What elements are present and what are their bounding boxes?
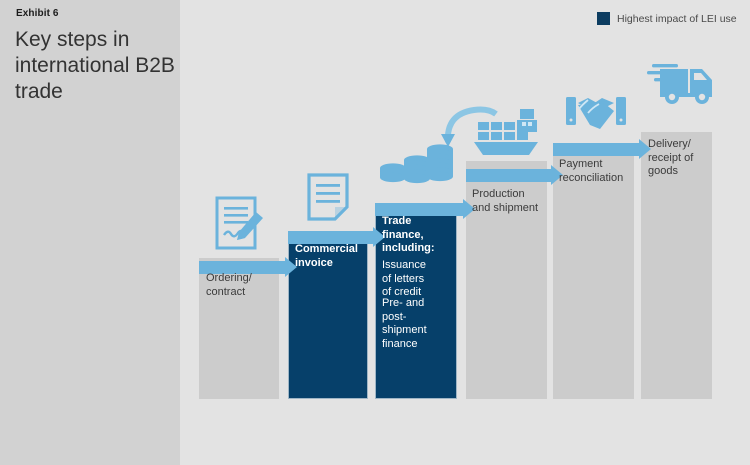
step-sublabel-letters-of-credit: Issuance of letters of credit	[382, 259, 460, 300]
step-label-production-shipment: Production and shipment	[472, 188, 552, 215]
exhibit-label: Exhibit 6	[16, 8, 59, 19]
legend-label: Highest impact of LEI use	[617, 13, 737, 25]
signed-contract-icon	[213, 195, 265, 253]
delivery-truck-icon	[644, 59, 716, 105]
step-sublabel-shipment-finance: Pre- and post- shipment finance	[382, 297, 460, 351]
step-label-trade-finance: Trade finance, including:	[382, 215, 460, 256]
legend-swatch-icon	[597, 12, 610, 25]
step-label-payment-reconciliation: Payment reconciliation	[559, 158, 639, 185]
title-panel: Exhibit 6 Key steps in international B2B…	[0, 0, 180, 465]
flow-arrow-to-payment-reconciliation	[466, 169, 563, 182]
handshake-icon	[565, 93, 627, 135]
page-title: Key steps in international B2B trade	[15, 27, 175, 105]
step-label-ordering-contract: Ordering/ contract	[206, 272, 282, 299]
step-label-commercial-invoice: Commercial invoice	[295, 243, 373, 270]
infographic-canvas: Exhibit 6 Key steps in international B2B…	[0, 0, 750, 465]
step-label-delivery-receipt: Delivery/ receipt of goods	[648, 138, 720, 179]
invoice-document-icon	[305, 172, 355, 228]
flow-arrow-to-delivery-receipt	[553, 143, 651, 156]
legend: Highest impact of LEI use	[597, 12, 737, 25]
step-bar-payment-reconciliation[interactable]	[553, 148, 634, 399]
cargo-ship-icon	[472, 105, 540, 157]
